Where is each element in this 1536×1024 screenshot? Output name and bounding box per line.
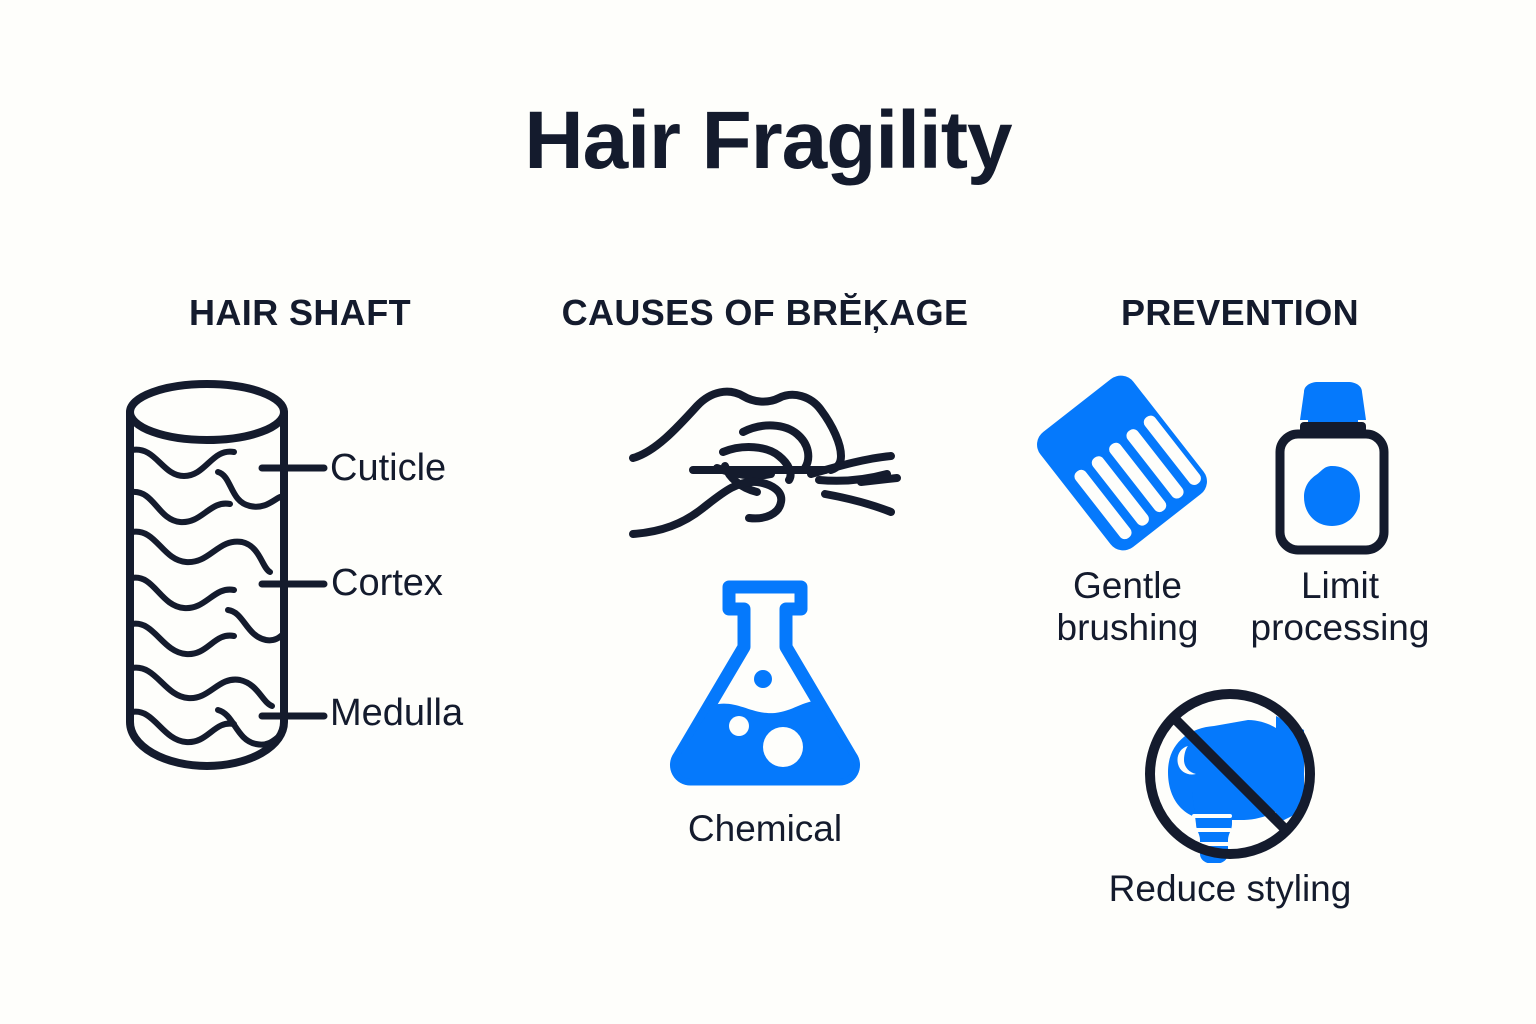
hair-shaft-label-cortex: Cortex xyxy=(331,562,443,605)
caption-limit-processing: Limit processing xyxy=(1205,565,1475,649)
column-heading-causes-of-breakage: CAUSES OF BRĔĶAGE xyxy=(525,292,1005,334)
hand-pulling-hair-icon xyxy=(625,382,925,557)
caption-chemical: Chemical xyxy=(600,808,930,850)
product-bottle-icon xyxy=(1262,378,1402,558)
comb-icon xyxy=(1035,368,1210,558)
caption-reduce-styling: Reduce styling xyxy=(1065,868,1395,910)
column-heading-hair-shaft: HAIR SHAFT xyxy=(60,292,540,334)
infographic-canvas: Hair Fragility HAIR SHAFT CAUSES OF BRĔĶ… xyxy=(0,0,1536,1024)
chemical-flask-icon xyxy=(655,575,875,795)
page-title: Hair Fragility xyxy=(0,100,1536,182)
column-heading-prevention: PREVENTION xyxy=(1000,292,1480,334)
hair-shaft-label-cuticle: Cuticle xyxy=(330,447,446,490)
no-hairdryer-icon xyxy=(1140,688,1320,863)
hair-shaft-label-medulla: Medulla xyxy=(330,692,463,735)
